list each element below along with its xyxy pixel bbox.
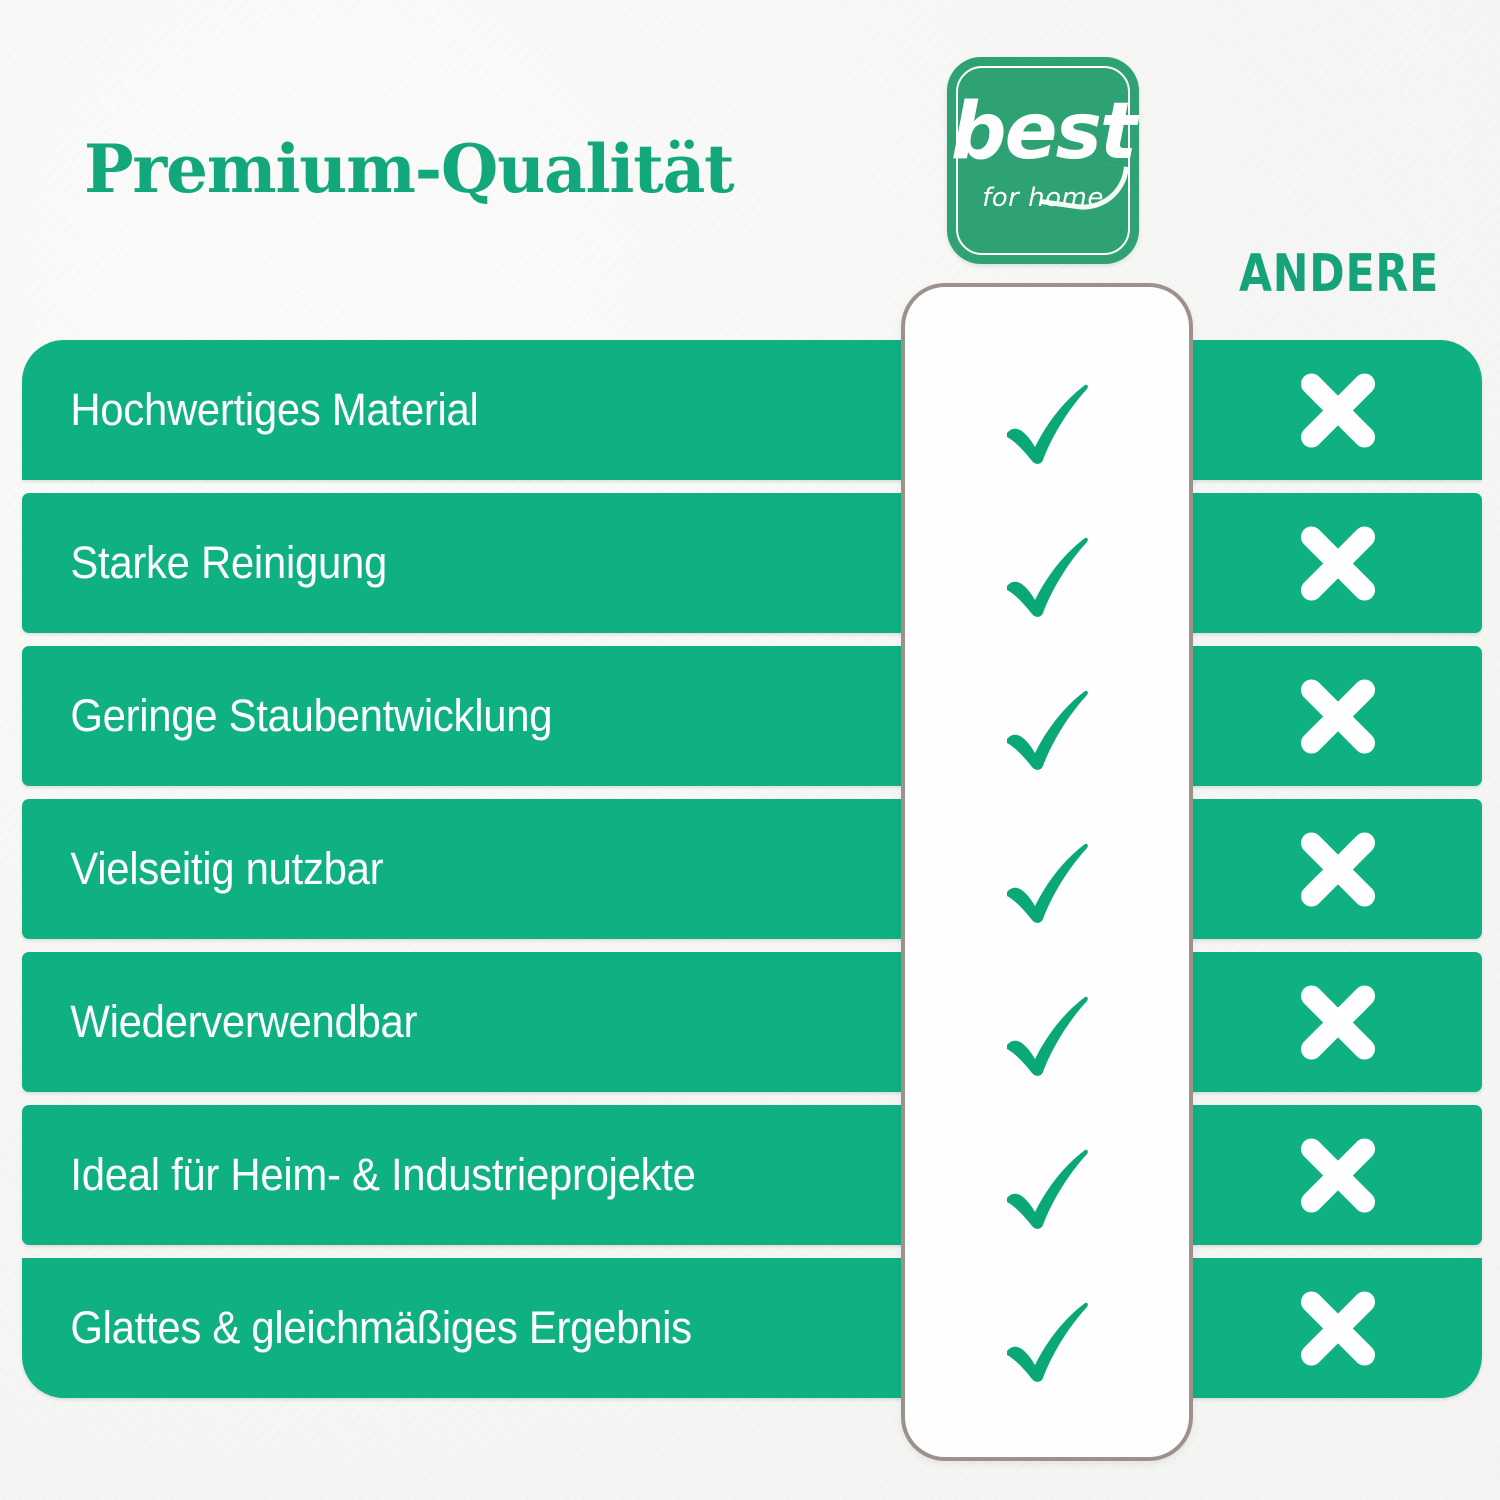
feature-label: Glattes & gleichmäßiges Ergebnis [22,1303,822,1353]
cell-andere [1194,520,1482,606]
feature-label: Ideal für Heim- & Industrieprojekte [22,1150,822,1200]
check-mark-icon [997,375,1097,467]
page-title: Premium-Qualität [84,130,733,208]
cross-mark-icon [1295,1285,1381,1371]
check-slot [905,956,1189,1109]
infographic-canvas: Premium-Qualität best for home ANDERE Ho… [0,0,1500,1500]
check-mark-icon [997,987,1097,1079]
cross-mark-icon [1295,673,1381,759]
cross-mark-icon [1295,826,1381,912]
cell-andere [1194,1285,1482,1371]
feature-label: Starke Reinigung [22,538,822,588]
check-slot [905,497,1189,650]
check-slot [905,344,1189,497]
feature-label: Wiederverwendbar [22,997,822,1047]
table-row: Hochwertiges Material [22,340,1482,480]
cross-mark-icon [1295,979,1381,1065]
cross-mark-icon [1295,1132,1381,1218]
check-mark-icon [997,834,1097,926]
table-row: Glattes & gleichmäßiges Ergebnis [22,1258,1482,1398]
check-slot [905,650,1189,803]
cross-mark-icon [1295,367,1381,453]
table-row: Ideal für Heim- & Industrieprojekte [22,1105,1482,1245]
table-row: Geringe Staubentwicklung [22,646,1482,786]
cell-andere [1194,367,1482,453]
check-mark-icon [997,528,1097,620]
column-header-andere: ANDERE [1222,248,1457,300]
table-row: Vielseitig nutzbar [22,799,1482,939]
check-slot [905,803,1189,956]
feature-label: Hochwertiges Material [22,385,822,435]
feature-label: Geringe Staubentwicklung [22,691,822,741]
table-row: Wiederverwendbar [22,952,1482,1092]
check-slot [905,1109,1189,1262]
table-row: Starke Reinigung [22,493,1482,633]
cell-andere [1194,673,1482,759]
logo-tagline: for home [947,183,1139,213]
check-mark-icon [997,1140,1097,1232]
check-mark-icon [997,681,1097,773]
comparison-table: Hochwertiges Material Starke Reinigung G… [22,340,1482,1398]
cell-andere [1194,826,1482,912]
best-for-home-column-card [901,283,1193,1461]
feature-label: Vielseitig nutzbar [22,844,822,894]
check-slot [905,1262,1189,1415]
check-mark-stack [905,344,1189,1415]
logo-brand-text: best [947,93,1139,171]
cell-andere [1194,1132,1482,1218]
cross-mark-icon [1295,520,1381,606]
check-mark-icon [997,1293,1097,1385]
brand-logo: best for home [947,57,1139,264]
cell-andere [1194,979,1482,1065]
